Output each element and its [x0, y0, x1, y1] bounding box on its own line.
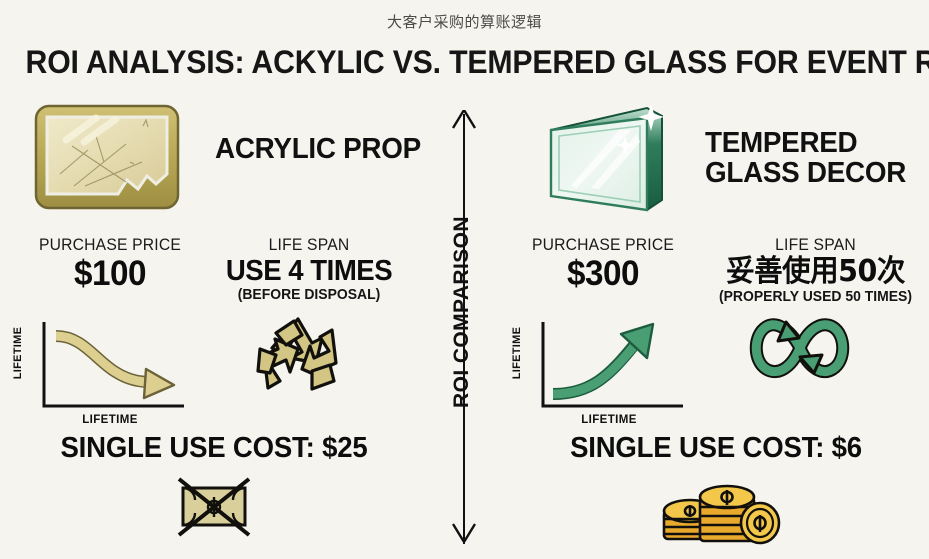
acrylic-lifespan-block: LIFE SPAN USE 4 TIMES (BEFORE DISPOSAL): [194, 236, 424, 303]
up-arrow-icon: [452, 110, 476, 130]
glass-price-block: PURCHASE PRICE $300: [497, 236, 709, 293]
glass-graph-y-label: LIFETIME: [511, 320, 523, 386]
divider-label: ROI COMPARISON: [450, 212, 474, 412]
acrylic-price-label: PURCHASE PRICE: [9, 236, 210, 255]
infinity-arrows-icon: [745, 311, 855, 390]
recycle-icon: [250, 311, 346, 408]
crossed-out-banknote-icon: [4, 471, 424, 541]
glass-single-use-cost: SINGLE USE COST: $6: [512, 432, 921, 465]
acrylic-single-use-cost: SINGLE USE COST: $25: [15, 432, 414, 465]
acrylic-lifespan-note: (BEFORE DISPOSAL): [202, 286, 416, 303]
column-tempered-glass: TEMPERED GLASS DECOR PURCHASE PRICE $300…: [505, 96, 925, 559]
glass-bottom: SINGLE USE COST: $6: [501, 432, 929, 549]
glass-price-label: PURCHASE PRICE: [502, 236, 703, 255]
glass-hero: TEMPERED GLASS DECOR: [505, 96, 925, 226]
glass-lifetime-graph: LIFETIME LIFETIME: [517, 318, 687, 423]
glass-product-name: TEMPERED GLASS DECOR: [705, 128, 928, 188]
glass-graph-x-label: LIFETIME: [539, 414, 679, 426]
subtitle-chinese: 大客户采购的算账逻辑: [0, 11, 929, 32]
glass-lifespan-label: LIFE SPAN: [699, 236, 929, 255]
page-title: ROI ANALYSIS: ACKYLIC VS. TEMPERED GLASS…: [26, 44, 904, 81]
acrylic-price-value: $100: [9, 256, 210, 293]
scratched-acrylic-panel-icon: [30, 100, 185, 220]
acrylic-graph-y-label: LIFETIME: [12, 320, 24, 386]
roi-comparison-divider: ROI COMPARISON: [424, 104, 504, 559]
down-arrow-icon: [452, 522, 476, 542]
glass-lifespan-value: 妥善使用50次: [699, 256, 929, 288]
coin-stacks-icon: [501, 471, 929, 549]
acrylic-bottom: SINGLE USE COST: $25: [4, 432, 424, 541]
acrylic-graph-x-label: LIFETIME: [40, 414, 180, 426]
acrylic-price-block: PURCHASE PRICE $100: [4, 236, 216, 293]
glass-lifespan-note: (PROPERLY USED 50 TIMES): [702, 288, 929, 305]
glass-lifespan-block: LIFE SPAN 妥善使用50次 (PROPERLY USED 50 TIME…: [693, 236, 929, 305]
infographic-root: 大客户采购的算账逻辑 ROI ANALYSIS: ACKYLIC VS. TEM…: [0, 0, 929, 559]
acrylic-lifespan-label: LIFE SPAN: [200, 236, 419, 255]
acrylic-hero: ACRYLIC PROP: [4, 96, 424, 226]
column-acrylic: ACRYLIC PROP PURCHASE PRICE $100 LIFE SP…: [4, 96, 424, 559]
acrylic-lifetime-graph: LIFETIME LIFETIME: [18, 318, 188, 423]
acrylic-product-name: ACRYLIC PROP: [215, 134, 426, 164]
glass-price-value: $300: [502, 256, 703, 293]
acrylic-lifespan-value: USE 4 TIMES: [200, 256, 419, 286]
tempered-glass-panel-icon: [541, 100, 681, 229]
